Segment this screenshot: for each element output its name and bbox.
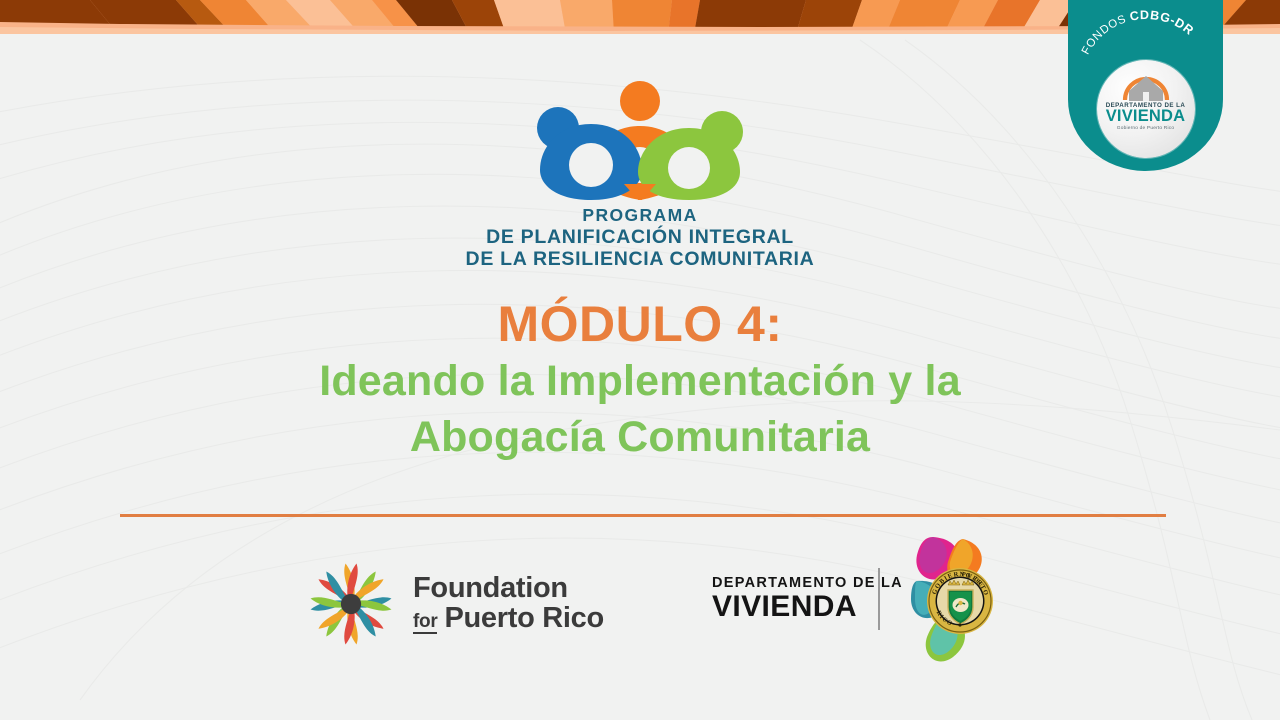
footer-logos: Foundation for Puerto Rico DEPARTAMENTO …	[0, 540, 1280, 670]
program-logo-line1: PROGRAMA	[466, 206, 815, 226]
foundation-line2: Puerto Rico	[444, 604, 603, 634]
vivienda-line2: VIVIENDA	[712, 592, 903, 623]
vertical-separator	[878, 568, 880, 630]
vivienda-wordmark: DEPARTAMENTO DE LA VIVIENDA	[712, 576, 903, 622]
subtitle-line-1: Ideando la Implementación y la	[0, 355, 1280, 407]
slide-canvas: FONDOS CDBG-DR DEPARTAMENTO DE LA VIVIEN…	[0, 0, 1280, 720]
puerto-rico-government-seal-icon: GOBIERNO DE PUERTO RICO	[903, 535, 999, 665]
horizontal-divider	[120, 514, 1166, 517]
program-logo: PROGRAMA DE PLANIFICACIÓN INTEGRAL DE LA…	[0, 80, 1280, 270]
foundation-for-word: for	[413, 612, 437, 634]
subtitle-line-2: Abogacía Comunitaria	[0, 411, 1280, 463]
foundation-line1: Foundation	[413, 574, 604, 604]
badge-cdbgdr-text: CDBG-DR	[1129, 8, 1197, 38]
svg-text:FONDOS CDBG-DR: FONDOS CDBG-DR	[1080, 8, 1197, 57]
program-logo-line3: DE LA RESILIENCIA COMUNITARIA	[466, 248, 815, 270]
badge-fondos-text: FONDOS	[1080, 12, 1132, 57]
program-logo-line2: DE PLANIFICACIÓN INTEGRAL	[466, 226, 815, 248]
title-block: MÓDULO 4: Ideando la Implementación y la…	[0, 298, 1280, 464]
foundation-for-puerto-rico-logo: Foundation for Puerto Rico	[305, 558, 604, 650]
program-logo-wordmark: PROGRAMA DE PLANIFICACIÓN INTEGRAL DE LA…	[466, 206, 815, 270]
vivienda-line1: DEPARTAMENTO DE LA	[712, 576, 903, 591]
foundation-wordmark: Foundation for Puerto Rico	[413, 574, 604, 634]
three-people-pin-icon	[524, 80, 756, 200]
flower-logo-icon	[305, 558, 397, 650]
module-title: MÓDULO 4:	[0, 298, 1280, 351]
